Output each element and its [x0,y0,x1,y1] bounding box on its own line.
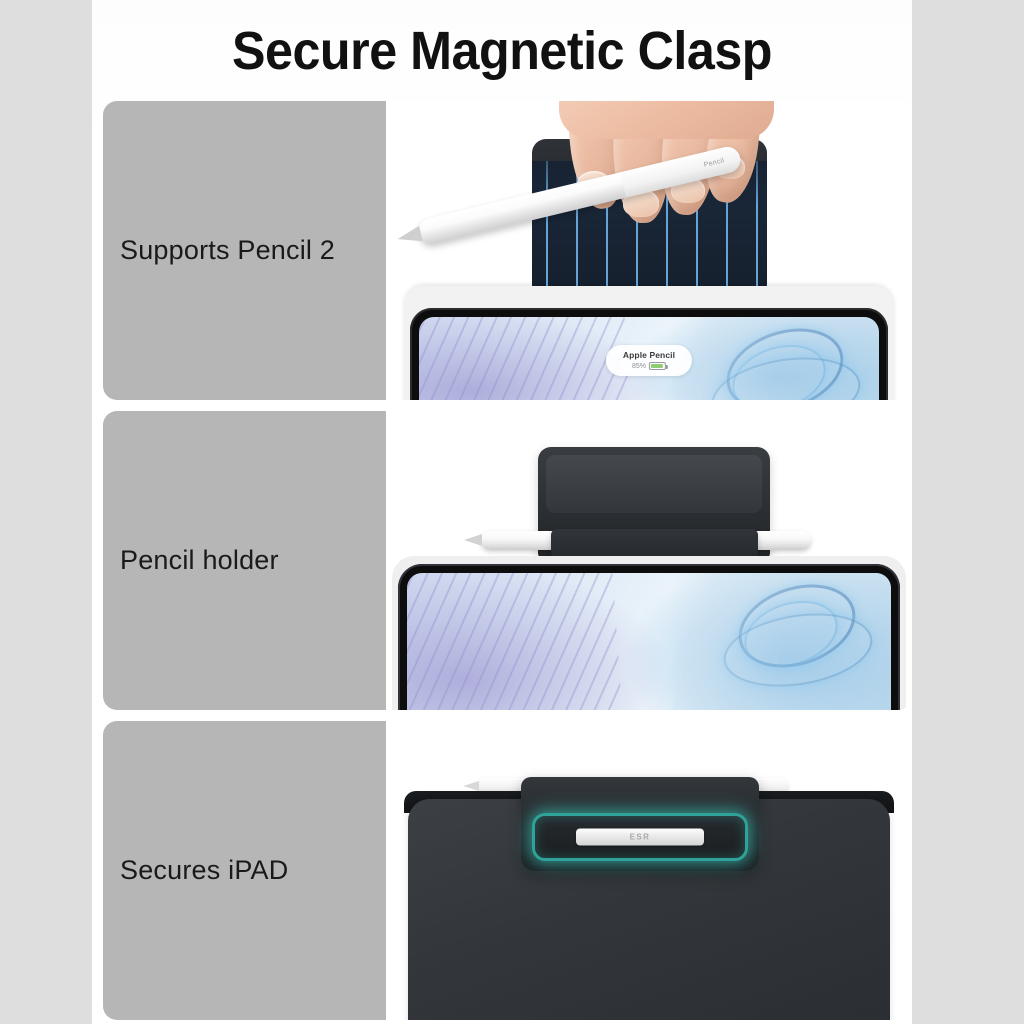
product-feature-graphic: Secure Magnetic Clasp Supports Pencil 2 [0,0,1024,1024]
notification-title: Apple Pencil [623,350,675,360]
feature-label-panel: Pencil holder [103,411,380,710]
ipad-screen [407,573,891,710]
screen-glare [673,573,891,710]
ipad-bezel: Apple Pencil 85% [410,308,888,400]
brand-badge-label: ESR [630,833,651,842]
battery-icon [649,362,666,370]
ipad-device: Apple Pencil 85% [404,286,894,400]
feature-row-secures-ipad: Secures iPAD ESR [103,721,912,1020]
feature-label: Supports Pencil 2 [103,235,335,266]
feature-row-pencil-holder: Pencil holder [103,411,912,710]
knuckles [559,101,774,139]
pencil-battery-notification: Apple Pencil 85% [606,345,692,376]
feature-photo-pencil-holder [386,411,912,710]
ipad-bezel [398,564,900,710]
wallpaper-streaks [419,317,634,400]
feature-label: Secures iPAD [103,855,288,886]
battery-percent-label: 85% [632,363,646,370]
feature-photo-supports-pencil-2: Pencil Apple Pencil 85% [386,101,912,400]
brand-badge: ESR [576,829,704,846]
page-title: Secure Magnetic Clasp [121,12,884,90]
feature-label: Pencil holder [103,545,279,576]
clasp-glow-outline: ESR [532,813,748,861]
feature-photo-secures-ipad: ESR [386,721,912,1020]
feature-label-panel: Secures iPAD [103,721,380,1020]
ipad-device [392,556,906,710]
screen-glare [672,317,879,400]
notification-battery: 85% [623,362,675,370]
ipad-screen: Apple Pencil 85% [419,317,879,400]
feature-label-panel: Supports Pencil 2 [103,101,380,400]
feature-row-supports-pencil-2: Supports Pencil 2 Pencil [103,101,912,400]
wallpaper-streaks [407,573,622,710]
